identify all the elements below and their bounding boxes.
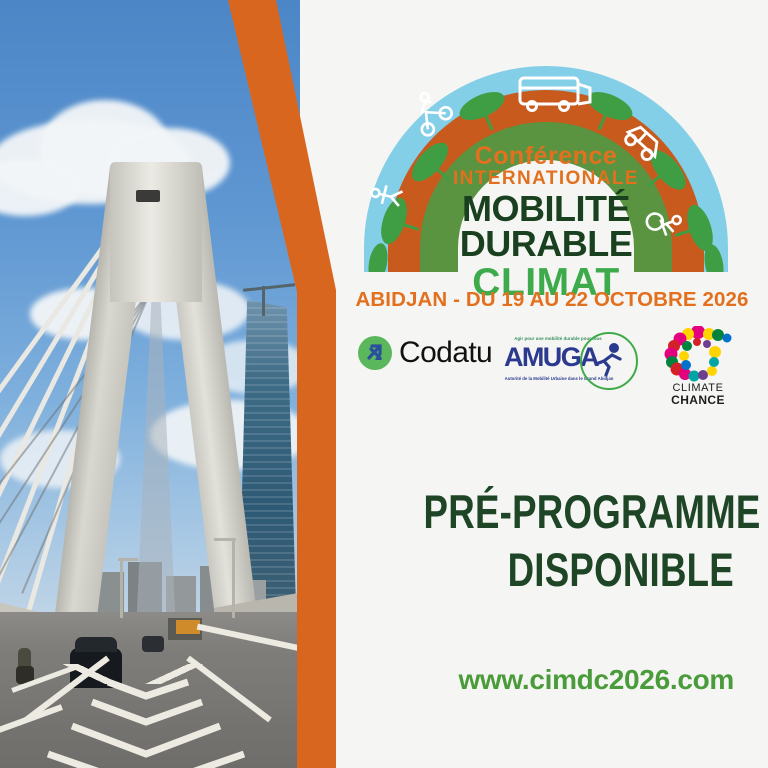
conference-logo: Conférence INTERNATIONALE MOBILITÉ DURAB… bbox=[348, 58, 744, 276]
partner-logo-codatu: Codatu bbox=[358, 336, 492, 370]
website-url[interactable]: www.cimdc2026.com bbox=[336, 664, 734, 696]
logo-line-conference: Conférence bbox=[348, 144, 744, 169]
codatu-wordmark: Codatu bbox=[399, 336, 492, 370]
logo-line-internationale: INTERNATIONALE bbox=[348, 169, 744, 188]
climate-chance-label-line2: CHANCE bbox=[652, 393, 744, 407]
event-date-location: ABIDJAN - DU 19 AU 22 OCTOBRE 2026 bbox=[336, 288, 768, 312]
partner-logo-climate-chance: CLIMATE CHANCE bbox=[652, 326, 744, 414]
street-lamp bbox=[232, 540, 235, 618]
street-lamp-arm bbox=[118, 558, 138, 561]
street-lamp bbox=[120, 560, 123, 618]
content-panel: Conférence INTERNATIONALE MOBILITÉ DURAB… bbox=[336, 0, 768, 768]
street-lamp-arm bbox=[214, 538, 236, 541]
logo-line-durable: DURABLE bbox=[348, 226, 744, 262]
codatu-arrows-icon bbox=[358, 336, 392, 370]
amuga-pedestrian-icon bbox=[592, 342, 626, 378]
partner-logo-amuga: Agir pour une mobilité durable pour tous… bbox=[504, 332, 626, 394]
logo-line-mobilite: MOBILITÉ bbox=[348, 191, 744, 227]
headline-line-1: PRÉ-PROGRAMME bbox=[424, 484, 734, 539]
headline-line-2: DISPONIBLE bbox=[424, 542, 734, 597]
poster-root: Conférence INTERNATIONALE MOBILITÉ DURAB… bbox=[0, 0, 768, 768]
climate-chance-dots-icon bbox=[652, 326, 744, 382]
chevron-markings-group bbox=[0, 636, 300, 768]
partner-logos-row: Codatu Agir pour une mobilité durable po… bbox=[336, 326, 768, 418]
abidjan-bridge-photo bbox=[0, 0, 300, 768]
